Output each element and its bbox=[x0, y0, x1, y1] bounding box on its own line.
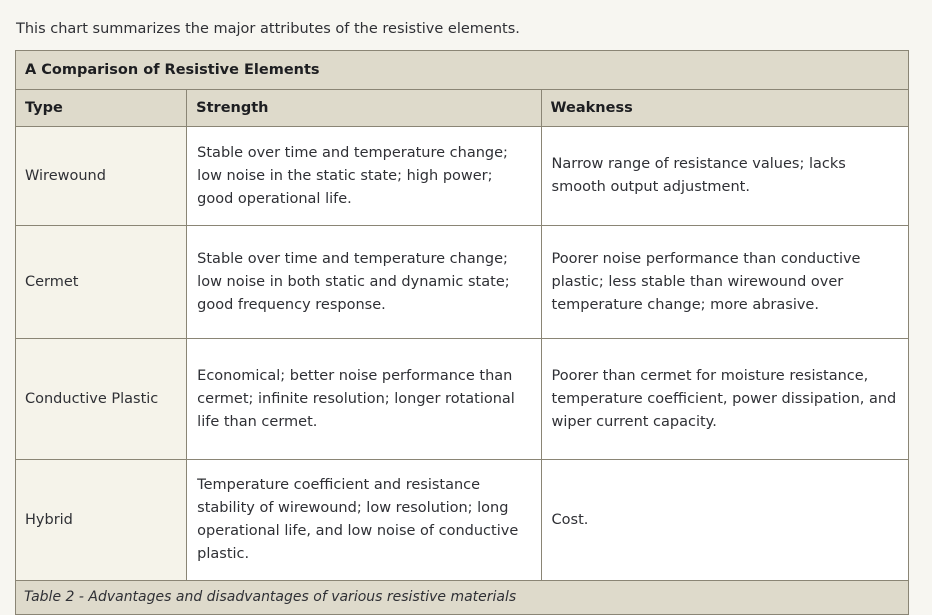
comparison-table: A Comparison of Resistive Elements Type … bbox=[15, 50, 909, 615]
table-title: A Comparison of Resistive Elements bbox=[16, 51, 909, 90]
cell-type: Hybrid bbox=[16, 460, 187, 581]
cell-strength: Temperature coefficient and resistance s… bbox=[187, 460, 541, 581]
table-row: Conductive Plastic Economical; better no… bbox=[16, 339, 909, 460]
column-header-weakness: Weakness bbox=[541, 90, 908, 127]
table-row: Cermet Stable over time and temperature … bbox=[16, 226, 909, 339]
table-header-row: Type Strength Weakness bbox=[16, 90, 909, 127]
cell-type: Cermet bbox=[16, 226, 187, 339]
cell-strength: Stable over time and temperature change;… bbox=[187, 226, 541, 339]
table-row: Wirewound Stable over time and temperatu… bbox=[16, 127, 909, 226]
table-row: Hybrid Temperature coefficient and resis… bbox=[16, 460, 909, 581]
column-header-strength: Strength bbox=[187, 90, 541, 127]
document-page: This chart summarizes the major attribut… bbox=[0, 0, 932, 589]
cell-strength: Economical; better noise performance tha… bbox=[187, 339, 541, 460]
cell-weakness: Poorer than cermet for moisture resistan… bbox=[541, 339, 908, 460]
table-title-row: A Comparison of Resistive Elements bbox=[16, 51, 909, 90]
cell-type: Wirewound bbox=[16, 127, 187, 226]
cell-weakness: Cost. bbox=[541, 460, 908, 581]
table-caption-row: Table 2 - Advantages and disadvantages o… bbox=[16, 581, 909, 615]
cell-strength: Stable over time and temperature change;… bbox=[187, 127, 541, 226]
cell-type: Conductive Plastic bbox=[16, 339, 187, 460]
cell-weakness: Narrow range of resistance values; lacks… bbox=[541, 127, 908, 226]
table-caption: Table 2 - Advantages and disadvantages o… bbox=[16, 581, 909, 615]
cell-weakness: Poorer noise performance than conductive… bbox=[541, 226, 908, 339]
comparison-table-container: A Comparison of Resistive Elements Type … bbox=[15, 50, 909, 615]
intro-paragraph: This chart summarizes the major attribut… bbox=[16, 19, 520, 39]
column-header-type: Type bbox=[16, 90, 187, 127]
